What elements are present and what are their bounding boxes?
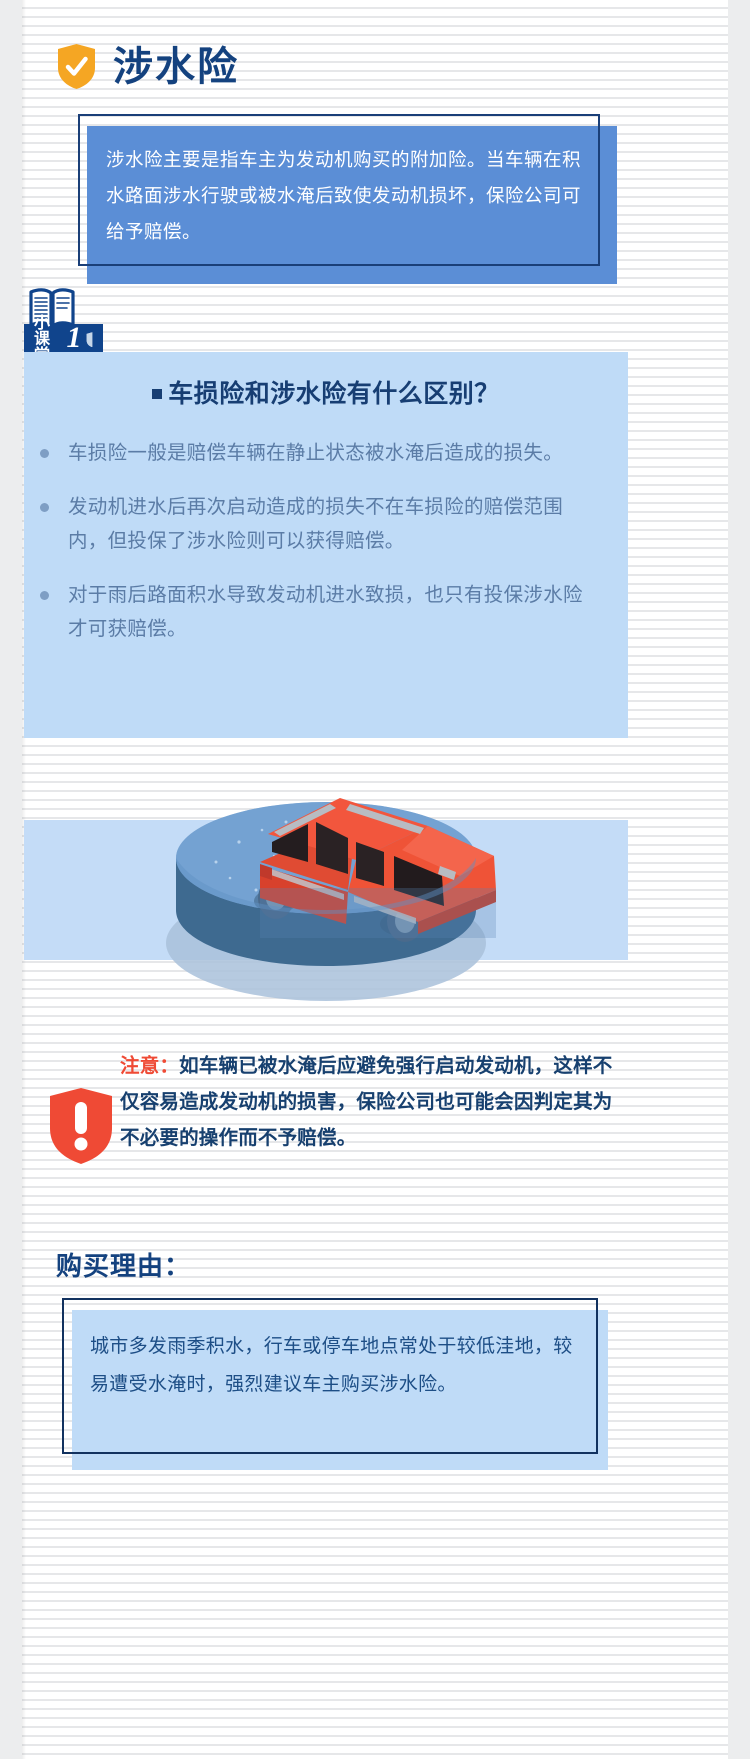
warning-label: 注意：: [120, 1055, 179, 1077]
warning-section: 注意：如车辆已被水淹后应避免强行启动发动机，这样不仅容易造成发动机的损害，保险公…: [46, 1048, 632, 1156]
list-item: 车损险一般是赔偿车辆在静止状态被水淹后造成的损失。: [68, 436, 592, 470]
warning-icon-column: [46, 1048, 120, 1156]
qa-panel: 车损险和涉水险有什么区别？ 车损险一般是赔偿车辆在静止状态被水淹后造成的损失。 …: [24, 352, 628, 738]
warning-text-body: 如车辆已被水淹后应避免强行启动发动机，这样不仅容易造成发动机的损害，保险公司也可…: [120, 1055, 613, 1149]
intro-text: 涉水险主要是指车主为发动机购买的附加险。当车辆在积水路面涉水行驶或被水淹后致使发…: [106, 142, 586, 250]
reason-heading: 购买理由：: [56, 1246, 191, 1283]
warning-text: 注意：如车辆已被水淹后应避免强行启动发动机，这样不仅容易造成发动机的损害，保险公…: [120, 1048, 632, 1156]
warning-shield-icon: [50, 1088, 112, 1164]
reason-text: 城市多发雨季积水，行车或停车地点常处于较低洼地，较易遭受水淹时，强烈建议车主购买…: [90, 1328, 580, 1404]
infographic-page: 涉水险 涉水险主要是指车主为发动机购买的附加险。当车辆在积水路面涉水行驶或被水淹…: [0, 0, 750, 1759]
page-title: 涉水险: [113, 47, 239, 87]
intro-box: 涉水险主要是指车主为发动机购买的附加险。当车辆在积水路面涉水行驶或被水淹后致使发…: [78, 114, 608, 284]
shield-icon: [85, 324, 100, 355]
bullet-dot-icon: [40, 591, 49, 600]
qa-bullet-list: 车损险一般是赔偿车辆在静止状态被水淹后造成的损失。 发动机进水后再次启动造成的损…: [24, 436, 628, 646]
lesson-badge-number: 1: [67, 323, 82, 353]
lesson-badge-bar: 小课堂 1: [24, 324, 103, 355]
bullet-dot-icon: [40, 503, 49, 512]
qa-heading-text: 车损险和涉水险有什么区别？: [168, 380, 500, 408]
qa-heading: 车损险和涉水险有什么区别？: [24, 374, 628, 410]
page-header: 涉水险: [58, 44, 239, 89]
shield-check-icon: [58, 44, 95, 89]
list-item-text: 车损险一般是赔偿车辆在静止状态被水淹后造成的损失。: [68, 442, 563, 464]
reason-box: 城市多发雨季积水，行车或停车地点常处于较低洼地，较易遭受水淹时，强烈建议车主购买…: [62, 1298, 608, 1470]
list-item-text: 发动机进水后再次启动造成的损失不在车损险的赔偿范围内，但投保了涉水险则可以获得赔…: [68, 496, 563, 552]
car-in-flooded-water-illustration: [24, 738, 628, 1038]
bullet-dot-icon: [40, 449, 49, 458]
list-item-text: 对于雨后路面积水导致发动机进水致损，也只有投保涉水险才可获赔偿。: [68, 584, 583, 640]
warning-body: 注意：如车辆已被水淹后应避免强行启动发动机，这样不仅容易造成发动机的损害，保险公…: [120, 1048, 632, 1156]
list-item: 对于雨后路面积水导致发动机进水致损，也只有投保涉水险才可获赔偿。: [68, 578, 592, 646]
square-bullet-icon: [152, 389, 162, 399]
list-item: 发动机进水后再次启动造成的损失不在车损险的赔偿范围内，但投保了涉水险则可以获得赔…: [68, 490, 592, 558]
flooded-car-scene: [24, 738, 628, 1038]
